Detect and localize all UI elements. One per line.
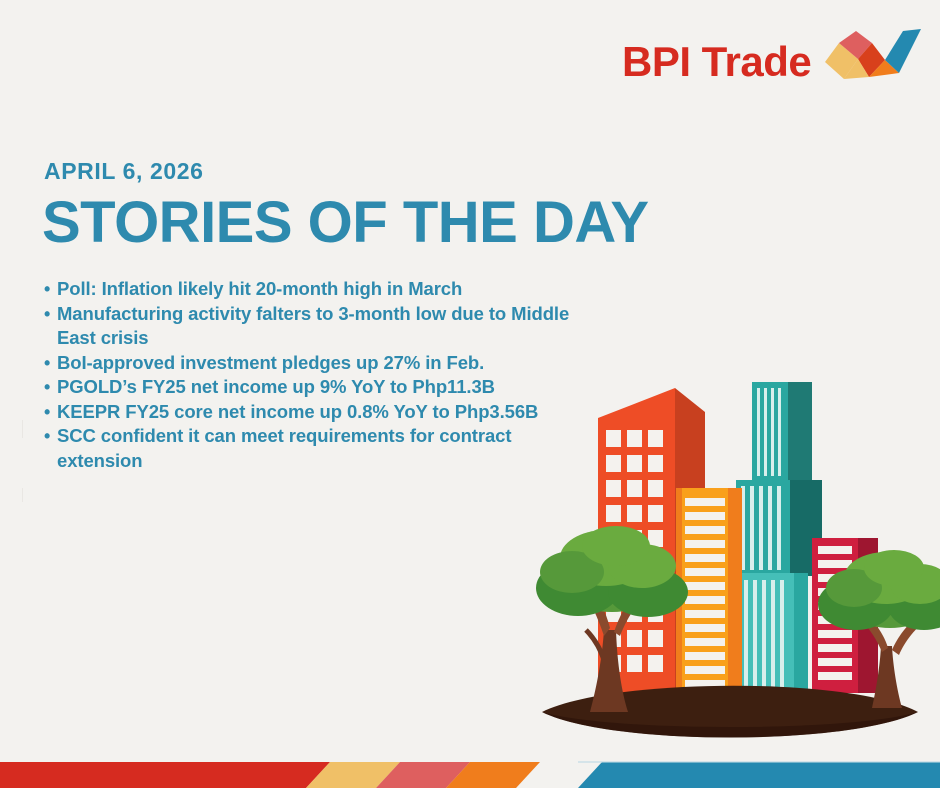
- blue-bar: [578, 762, 940, 788]
- page-title: STORIES OF THE DAY: [42, 192, 649, 255]
- red-bar: [0, 762, 330, 788]
- blue-bar-highlight: [578, 761, 940, 763]
- poster-canvas: BPI Trade APRIL 6, 2026 STORIES OF THE D…: [0, 0, 940, 788]
- list-item: Poll: Inflation likely hit 20-month high…: [44, 277, 584, 302]
- bpi-trade-chevron-mark-icon: [825, 29, 921, 91]
- city-skyline-illustration: [520, 360, 940, 760]
- list-item: PGOLD’s FY25 net income up 9% YoY to Php…: [44, 375, 584, 400]
- decorative-slanted-color-bars: [0, 752, 940, 788]
- issue-date: APRIL 6, 2026: [44, 160, 204, 183]
- stories-list: Poll: Inflation likely hit 20-month high…: [44, 277, 584, 473]
- list-item: SCC confident it can meet requirements f…: [44, 424, 584, 473]
- panel-edge-left: [22, 420, 23, 438]
- brand-logo[interactable]: BPI Trade: [622, 34, 921, 90]
- brand-name: BPI Trade: [622, 41, 811, 83]
- list-item: Manufacturing activity falters to 3-mont…: [44, 302, 584, 351]
- panel-edge-left-lower: [22, 488, 23, 502]
- list-item: KEEPR FY25 core net income up 0.8% YoY t…: [44, 400, 584, 425]
- list-item: BoI-approved investment pledges up 27% i…: [44, 351, 584, 376]
